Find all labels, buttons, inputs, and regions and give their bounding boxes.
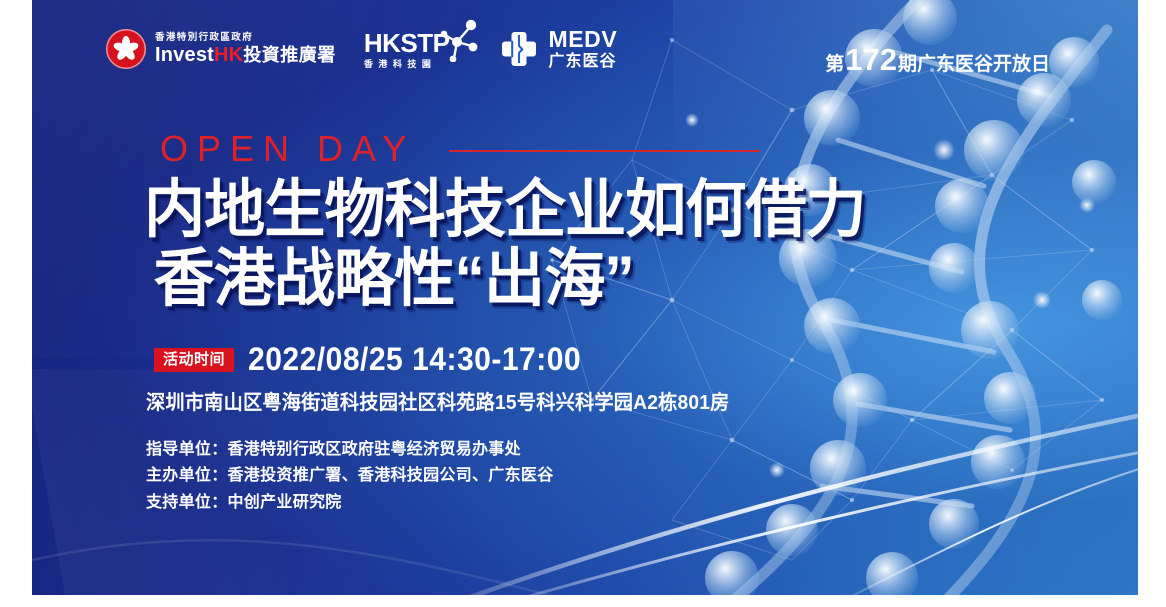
page-title: 内地生物科技企业如何借力 香港战略性“出海” [144, 178, 888, 312]
event-datetime: 2022/08/25 14:30-17:00 [248, 341, 581, 378]
issue-prefix: 第 [825, 49, 844, 76]
eyebrow-text: OPEN DAY [160, 128, 415, 170]
molecule-node-icon [439, 18, 479, 62]
logo-investhk: 香港特別行政區政府 InvestHK投資推廣署 [106, 29, 336, 69]
organizer-list: 指导单位：香港特别行政区政府驻粤经济贸易办事处 主办单位：香港投资推广署、香港科… [146, 437, 554, 516]
medical-cross-icon [499, 29, 539, 69]
investhk-wordmark: InvestHK投資推廣署 [155, 45, 336, 65]
medv-wordmark: MEDV [548, 28, 617, 51]
page-margin-bottom [0, 595, 1166, 607]
hkstp-wordmark: HKSTP [364, 30, 450, 56]
issue-suffix: 期广东医谷开放日 [898, 49, 1050, 76]
event-poster: 香港特別行政區政府 InvestHK投資推廣署 HKSTP 香港科技園 [0, 0, 1166, 607]
event-time-row: 活动时间 2022/08/25 14:30-17:00 [154, 341, 602, 378]
medv-chinese-name: 广东医谷 [548, 54, 617, 70]
investhk-word-cn: 投資推廣署 [243, 45, 336, 65]
investhk-word-hk: HK [214, 44, 243, 66]
investhk-word-invest: Invest [155, 44, 214, 66]
page-margin-left [0, 0, 32, 607]
organizer-line-guidance: 指导单位：香港特别行政区政府驻粤经济贸易办事处 [146, 437, 554, 463]
headline-line-2: 香港战略性“出海” [144, 247, 866, 312]
logo-medv: MEDV 广东医谷 [499, 28, 617, 70]
eyebrow-row: OPEN DAY [160, 128, 760, 170]
organizer-line-host: 主办单位：香港投资推广署、香港科技园公司、广东医谷 [146, 463, 554, 489]
eyebrow-rule [449, 150, 760, 152]
page-margin-right [1138, 0, 1166, 607]
issue-number: 172 [844, 42, 898, 78]
hongkong-bauhinia-emblem-icon [106, 29, 146, 69]
sponsor-logo-bar: 香港特別行政區政府 InvestHK投資推廣署 HKSTP 香港科技園 [106, 28, 617, 70]
poster-stage: 香港特別行政區政府 InvestHK投資推廣署 HKSTP 香港科技園 [32, 0, 1138, 595]
time-badge: 活动时间 [154, 348, 234, 372]
issue-number-label: 第 172 期广东医谷开放日 [825, 42, 1050, 78]
headline-line-1: 内地生物科技企业如何借力 [144, 178, 866, 243]
logo-hkstp: HKSTP 香港科技園 [364, 30, 450, 69]
hkstp-chinese-name: 香港科技園 [364, 60, 450, 69]
investhk-gov-line: 香港特別行政區政府 [155, 33, 336, 43]
organizer-line-support: 支持单位：中创产业研究院 [146, 490, 554, 516]
event-address: 深圳市南山区粤海街道科技园社区科苑路15号科兴科学园A2栋801房 [146, 386, 729, 415]
